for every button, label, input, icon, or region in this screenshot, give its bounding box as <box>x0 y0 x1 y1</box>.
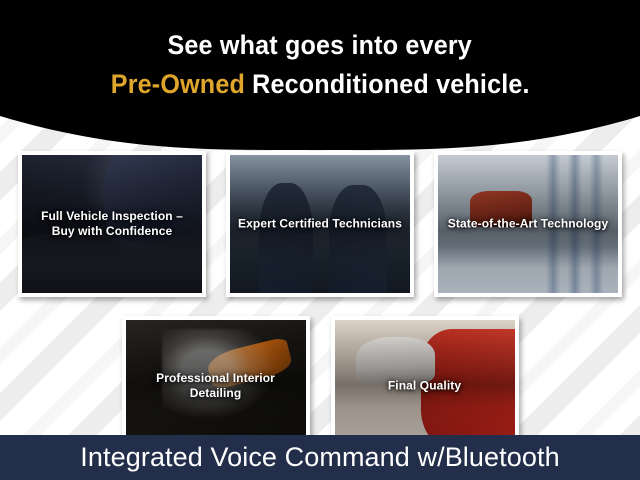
footer-caption-text: Integrated Voice Command w/Bluetooth <box>80 442 559 473</box>
header-curve-shape <box>0 0 640 156</box>
card-label-inspection: Full Vehicle Inspection – Buy with Confi… <box>22 209 202 239</box>
card-label-line-1: Professional Interior <box>156 371 275 385</box>
card-label-line-1: Final Quality <box>388 379 461 393</box>
card-label-technicians: Expert Certified Technicians <box>230 217 410 232</box>
card-professional-interior-detailing[interactable]: Professional Interior Detailing <box>122 316 310 442</box>
card-label-line-1: Full Vehicle Inspection – <box>41 209 183 223</box>
footer-caption-bar: Integrated Voice Command w/Bluetooth <box>0 435 640 480</box>
promo-slide: See what goes into every Pre-Owned Recon… <box>0 0 640 480</box>
card-full-vehicle-inspection[interactable]: Full Vehicle Inspection – Buy with Confi… <box>18 151 206 297</box>
feature-card-row-bottom: Professional Interior Detailing Final Qu… <box>0 316 640 442</box>
card-label-line-1: Expert Certified Technicians <box>238 217 402 231</box>
card-expert-certified-technicians[interactable]: Expert Certified Technicians <box>226 151 414 297</box>
card-label-line-1: State-of-the-Art Technology <box>448 217 608 231</box>
feature-card-row-top: Full Vehicle Inspection – Buy with Confi… <box>0 151 640 297</box>
card-final-quality[interactable]: Final Quality <box>331 316 519 442</box>
card-label-detailing: Professional Interior Detailing <box>126 371 306 401</box>
card-label-final-quality: Final Quality <box>335 379 515 394</box>
card-label-line-2: Buy with Confidence <box>52 224 173 238</box>
card-label-line-2: Detailing <box>190 386 242 400</box>
card-label-technology: State-of-the-Art Technology <box>438 217 618 232</box>
card-state-of-the-art-technology[interactable]: State-of-the-Art Technology <box>434 151 622 297</box>
header-banner <box>0 0 640 156</box>
